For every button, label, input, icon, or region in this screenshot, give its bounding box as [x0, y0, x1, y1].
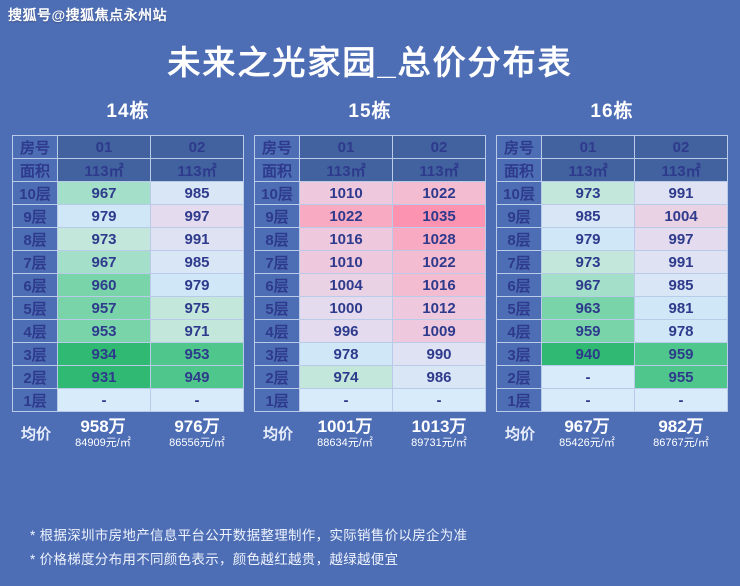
page-title: 未来之光家园_总价分布表 [0, 36, 740, 84]
area-label: 面积 [255, 159, 300, 182]
average-total: 1001万 [298, 417, 392, 436]
area-value: 113㎡ [300, 159, 393, 182]
price-cell[interactable]: 997 [151, 205, 244, 228]
price-cell[interactable]: 1016 [300, 228, 393, 251]
table-row: 2层974986 [255, 366, 486, 389]
price-cell[interactable]: 959 [542, 320, 635, 343]
building-title: 14栋 [12, 96, 244, 123]
price-cell[interactable]: 996 [300, 320, 393, 343]
floor-label: 5层 [13, 297, 58, 320]
floor-label: 1层 [497, 389, 542, 412]
price-cell[interactable]: 985 [542, 205, 635, 228]
table-row: 8层979997 [497, 228, 728, 251]
floor-label: 8层 [13, 228, 58, 251]
price-cell[interactable]: 991 [151, 228, 244, 251]
area-value: 113㎡ [542, 159, 635, 182]
average-unit-price: 86767元/㎡ [634, 436, 728, 450]
column-header: 02 [635, 136, 728, 159]
average-unit-price: 84909元/㎡ [56, 436, 150, 450]
floor-label: 4层 [13, 320, 58, 343]
floor-label: 3层 [497, 343, 542, 366]
average-unit-price: 85426元/㎡ [540, 436, 634, 450]
table-area-row: 面积113㎡113㎡ [255, 159, 486, 182]
price-cell[interactable]: 963 [542, 297, 635, 320]
building-block: 16栋房号0102面积113㎡113㎡10层9739919层98510048层9… [496, 96, 728, 450]
table-row: 4层9961009 [255, 320, 486, 343]
floor-label: 4层 [497, 320, 542, 343]
floor-label: 7层 [13, 251, 58, 274]
area-value: 113㎡ [151, 159, 244, 182]
room-no-label: 房号 [497, 136, 542, 159]
notes-section: * 根据深圳市房地产信息平台公开数据整理制作，实际销售价以房企为准* 价格梯度分… [0, 524, 740, 572]
average-price-cell: 982万86767元/㎡ [634, 417, 728, 450]
column-header: 01 [542, 136, 635, 159]
column-header: 02 [151, 136, 244, 159]
column-header: 02 [393, 136, 486, 159]
average-price-row: 均价1001万88634元/㎡1013万89731元/㎡ [254, 417, 486, 450]
price-cell[interactable]: 1000 [300, 297, 393, 320]
floor-label: 5层 [255, 297, 300, 320]
price-cell[interactable]: 953 [151, 343, 244, 366]
column-header: 01 [300, 136, 393, 159]
average-total: 982万 [634, 417, 728, 436]
average-price-label: 均价 [12, 423, 56, 444]
price-cell[interactable]: 940 [542, 343, 635, 366]
price-table: 房号0102面积113㎡113㎡10层9679859层9799978层97399… [12, 135, 244, 412]
price-cell[interactable]: - [542, 366, 635, 389]
table-row: 1层-- [255, 389, 486, 412]
price-table: 房号0102面积113㎡113㎡10层101010229层102210358层1… [254, 135, 486, 412]
price-cell[interactable]: 957 [58, 297, 151, 320]
area-label: 面积 [13, 159, 58, 182]
price-cell[interactable]: 1012 [393, 297, 486, 320]
price-cell[interactable]: 1022 [300, 205, 393, 228]
price-cell[interactable]: - [635, 389, 728, 412]
floor-label: 3层 [255, 343, 300, 366]
room-no-label: 房号 [13, 136, 58, 159]
table-row: 7层973991 [497, 251, 728, 274]
table-row: 9层979997 [13, 205, 244, 228]
price-cell[interactable]: 991 [635, 251, 728, 274]
floor-label: 8层 [497, 228, 542, 251]
table-row: 7层967985 [13, 251, 244, 274]
table-row: 8层973991 [13, 228, 244, 251]
table-header-row: 房号0102 [255, 136, 486, 159]
price-cell[interactable]: 979 [151, 274, 244, 297]
table-row: 6层967985 [497, 274, 728, 297]
price-cell[interactable]: 1022 [393, 251, 486, 274]
note-line: * 根据深圳市房地产信息平台公开数据整理制作，实际销售价以房企为准 [30, 524, 710, 548]
table-row: 5层957975 [13, 297, 244, 320]
table-row: 10层967985 [13, 182, 244, 205]
price-cell[interactable]: 967 [58, 182, 151, 205]
average-price-cell: 1013万89731元/㎡ [392, 417, 486, 450]
floor-label: 10层 [255, 182, 300, 205]
average-total: 1013万 [392, 417, 486, 436]
floor-label: 7层 [497, 251, 542, 274]
table-row: 8层10161028 [255, 228, 486, 251]
tables-container: 14栋房号0102面积113㎡113㎡10层9679859层9799978层97… [0, 96, 740, 450]
table-row: 3层934953 [13, 343, 244, 366]
price-cell[interactable]: 1022 [393, 182, 486, 205]
table-header-row: 房号0102 [13, 136, 244, 159]
area-value: 113㎡ [393, 159, 486, 182]
floor-label: 6层 [13, 274, 58, 297]
price-cell[interactable]: 1004 [635, 205, 728, 228]
price-cell[interactable]: 971 [151, 320, 244, 343]
price-cell[interactable]: 990 [393, 343, 486, 366]
price-cell[interactable]: 1035 [393, 205, 486, 228]
table-area-row: 面积113㎡113㎡ [13, 159, 244, 182]
price-cell[interactable]: 1004 [300, 274, 393, 297]
price-cell[interactable]: - [542, 389, 635, 412]
note-line: * 价格梯度分布用不同颜色表示，颜色越红越贵，越绿越便宜 [30, 548, 710, 572]
price-cell[interactable]: 991 [635, 182, 728, 205]
area-label: 面积 [497, 159, 542, 182]
price-cell[interactable]: 975 [151, 297, 244, 320]
building-block: 15栋房号0102面积113㎡113㎡10层101010229层10221035… [254, 96, 486, 450]
price-cell[interactable]: 967 [542, 274, 635, 297]
average-price-cell: 976万86556元/㎡ [150, 417, 244, 450]
floor-label: 9层 [13, 205, 58, 228]
price-cell[interactable]: - [393, 389, 486, 412]
price-cell[interactable]: 978 [300, 343, 393, 366]
average-price-row: 均价958万84909元/㎡976万86556元/㎡ [12, 417, 244, 450]
price-cell[interactable]: 985 [635, 274, 728, 297]
table-row: 6层960979 [13, 274, 244, 297]
table-area-row: 面积113㎡113㎡ [497, 159, 728, 182]
price-cell[interactable]: 960 [58, 274, 151, 297]
floor-label: 2层 [497, 366, 542, 389]
table-row: 3层940959 [497, 343, 728, 366]
column-header: 01 [58, 136, 151, 159]
table-row: 2层-955 [497, 366, 728, 389]
table-row: 10层10101022 [255, 182, 486, 205]
price-cell[interactable]: 979 [542, 228, 635, 251]
floor-label: 7层 [255, 251, 300, 274]
room-no-label: 房号 [255, 136, 300, 159]
area-value: 113㎡ [635, 159, 728, 182]
price-cell[interactable]: 959 [635, 343, 728, 366]
floor-label: 10层 [497, 182, 542, 205]
floor-label: 2层 [255, 366, 300, 389]
price-cell[interactable]: 1028 [393, 228, 486, 251]
price-cell[interactable]: 1016 [393, 274, 486, 297]
average-unit-price: 86556元/㎡ [150, 436, 244, 450]
price-cell[interactable]: 931 [58, 366, 151, 389]
table-row: 1层-- [497, 389, 728, 412]
table-row: 5层963981 [497, 297, 728, 320]
table-row: 9层9851004 [497, 205, 728, 228]
table-row: 1层-- [13, 389, 244, 412]
price-cell[interactable]: 934 [58, 343, 151, 366]
price-cell[interactable]: 978 [635, 320, 728, 343]
price-cell[interactable]: 955 [635, 366, 728, 389]
table-header-row: 房号0102 [497, 136, 728, 159]
price-cell[interactable]: 997 [635, 228, 728, 251]
building-block: 14栋房号0102面积113㎡113㎡10层9679859层9799978层97… [12, 96, 244, 450]
price-cell[interactable]: 953 [58, 320, 151, 343]
table-row: 10层973991 [497, 182, 728, 205]
price-cell[interactable]: 1009 [393, 320, 486, 343]
floor-label: 3层 [13, 343, 58, 366]
average-price-cell: 967万85426元/㎡ [540, 417, 634, 450]
price-cell[interactable]: 967 [58, 251, 151, 274]
average-total: 958万 [56, 417, 150, 436]
price-table: 房号0102面积113㎡113㎡10层9739919层98510048层9799… [496, 135, 728, 412]
floor-label: 9层 [255, 205, 300, 228]
watermark: 搜狐号@搜狐焦点永州站 [8, 5, 167, 25]
average-price-row: 均价967万85426元/㎡982万86767元/㎡ [496, 417, 728, 450]
average-total: 967万 [540, 417, 634, 436]
price-cell[interactable]: 985 [151, 182, 244, 205]
price-cell[interactable]: 1010 [300, 251, 393, 274]
floor-label: 6层 [497, 274, 542, 297]
average-price-cell: 958万84909元/㎡ [56, 417, 150, 450]
table-row: 2层931949 [13, 366, 244, 389]
area-value: 113㎡ [58, 159, 151, 182]
floor-label: 10层 [13, 182, 58, 205]
floor-label: 1层 [255, 389, 300, 412]
average-price-cell: 1001万88634元/㎡ [298, 417, 392, 450]
average-price-label: 均价 [496, 423, 540, 444]
average-unit-price: 88634元/㎡ [298, 436, 392, 450]
floor-label: 8层 [255, 228, 300, 251]
price-cell[interactable]: 985 [151, 251, 244, 274]
floor-label: 9层 [497, 205, 542, 228]
price-cell[interactable]: 973 [542, 182, 635, 205]
price-cell[interactable]: 981 [635, 297, 728, 320]
floor-label: 2层 [13, 366, 58, 389]
price-cell[interactable]: - [151, 389, 244, 412]
table-row: 6层10041016 [255, 274, 486, 297]
price-cell[interactable]: 979 [58, 205, 151, 228]
table-row: 4层959978 [497, 320, 728, 343]
average-unit-price: 89731元/㎡ [392, 436, 486, 450]
table-row: 7层10101022 [255, 251, 486, 274]
price-cell[interactable]: - [58, 389, 151, 412]
price-cell[interactable]: 973 [542, 251, 635, 274]
table-row: 4层953971 [13, 320, 244, 343]
floor-label: 5层 [497, 297, 542, 320]
average-total: 976万 [150, 417, 244, 436]
price-cell[interactable]: 973 [58, 228, 151, 251]
price-cell[interactable]: - [300, 389, 393, 412]
price-cell[interactable]: 986 [393, 366, 486, 389]
floor-label: 6层 [255, 274, 300, 297]
floor-label: 1层 [13, 389, 58, 412]
average-price-label: 均价 [254, 423, 298, 444]
table-row: 3层978990 [255, 343, 486, 366]
price-cell[interactable]: 1010 [300, 182, 393, 205]
floor-label: 4层 [255, 320, 300, 343]
building-title: 15栋 [254, 96, 486, 123]
building-title: 16栋 [496, 96, 728, 123]
price-cell[interactable]: 949 [151, 366, 244, 389]
table-row: 5层10001012 [255, 297, 486, 320]
table-row: 9层10221035 [255, 205, 486, 228]
price-cell[interactable]: 974 [300, 366, 393, 389]
